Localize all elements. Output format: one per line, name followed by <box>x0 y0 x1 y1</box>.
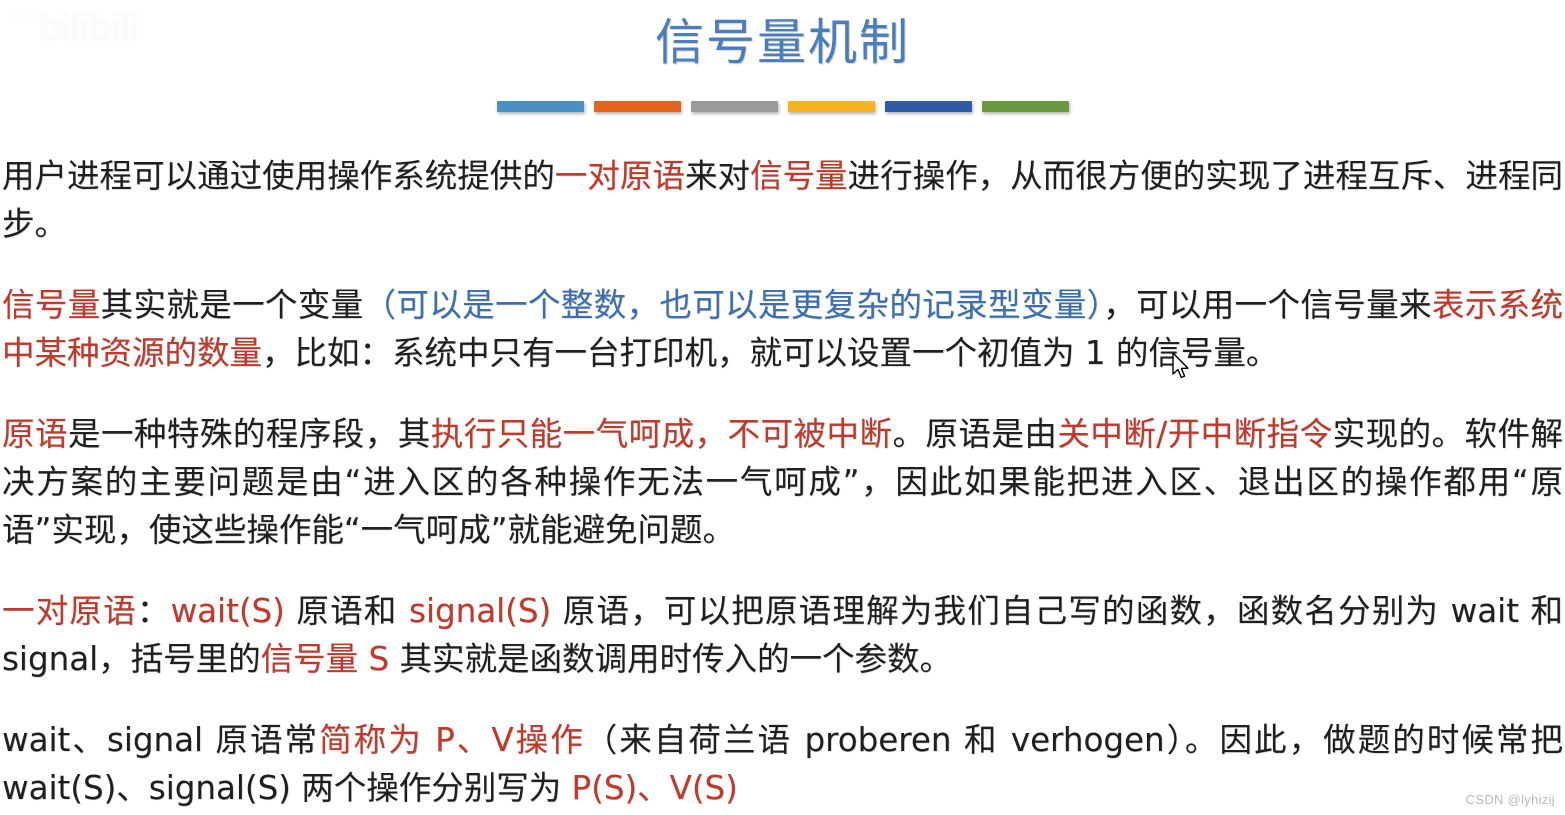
text-run: 原语 <box>2 415 68 453</box>
slide-canvas: 哔哩 bilibili 信号量机制 用户进程可以通过使用操作系统提供的一对原语来… <box>0 0 1565 815</box>
text-run: 执行只能一气呵成，不可被中断 <box>431 415 893 453</box>
paragraph-5: wait、signal 原语常简称为 P、V操作（来自荷兰语 proberen … <box>2 716 1563 812</box>
text-run: 来对 <box>685 157 750 195</box>
paragraph-4: 一对原语：wait(S) 原语和 signal(S) 原语，可以把原语理解为我们… <box>2 587 1563 683</box>
text-run: 用户进程可以通过使用操作系统提供的 <box>2 157 555 195</box>
text-run: wait(S) <box>171 592 285 630</box>
accent-bar-orange <box>594 101 681 112</box>
text-run: 是一种特殊的程序段，其 <box>68 415 431 453</box>
accent-bar-blue <box>497 101 584 112</box>
text-run: 信号量 <box>2 286 101 324</box>
title-block: 信号量机制 <box>0 8 1565 78</box>
page-title: 信号量机制 <box>0 8 1565 78</box>
csdn-watermark-credit: CSDN @lyhizij <box>1466 792 1555 807</box>
text-run: （可以是一个整数，也可以是更复杂的记录型变量） <box>364 286 1104 324</box>
text-run: 一对原语 <box>555 157 685 195</box>
text-run: 信号量 S <box>261 640 389 678</box>
paragraph-3: 原语是一种特殊的程序段，其执行只能一气呵成，不可被中断。原语是由关中断/开中断指… <box>2 410 1563 554</box>
text-run: 信号量 <box>750 157 848 195</box>
text-run: 关中断/开中断指令 <box>1057 415 1332 453</box>
text-run: 一对原语 <box>2 592 137 630</box>
text-run: signal(S) <box>409 592 551 630</box>
text-run: ： <box>137 592 171 630</box>
body-text-container: 用户进程可以通过使用操作系统提供的一对原语来对信号量进行操作，从而很方便的实现了… <box>0 152 1565 812</box>
accent-bar-gray <box>691 101 778 112</box>
accent-bar-amber <box>788 101 875 112</box>
text-run: 其实就是一个变量 <box>101 286 364 324</box>
text-run: ，可以用一个信号量来 <box>1103 286 1432 324</box>
text-run: wait、signal 原语常 <box>2 721 319 759</box>
accent-bar-dark-blue <box>885 101 972 112</box>
accent-bar-green <box>982 101 1069 112</box>
text-run: 原语和 <box>285 592 409 630</box>
text-run: 其实就是函数调用时传入的一个参数。 <box>389 640 952 678</box>
paragraph-1: 用户进程可以通过使用操作系统提供的一对原语来对信号量进行操作，从而很方便的实现了… <box>2 152 1563 248</box>
accent-bar-group <box>0 101 1565 112</box>
text-run: ，比如：系统中只有一台打印机，就可以设置一个初值为 1 的信号量。 <box>262 334 1278 372</box>
paragraph-2: 信号量其实就是一个变量（可以是一个整数，也可以是更复杂的记录型变量），可以用一个… <box>2 281 1563 377</box>
text-run: 简称为 P、V操作 <box>319 721 585 759</box>
text-run: 。原语是由 <box>892 415 1057 453</box>
text-run: P(S)、V(S) <box>572 769 738 807</box>
